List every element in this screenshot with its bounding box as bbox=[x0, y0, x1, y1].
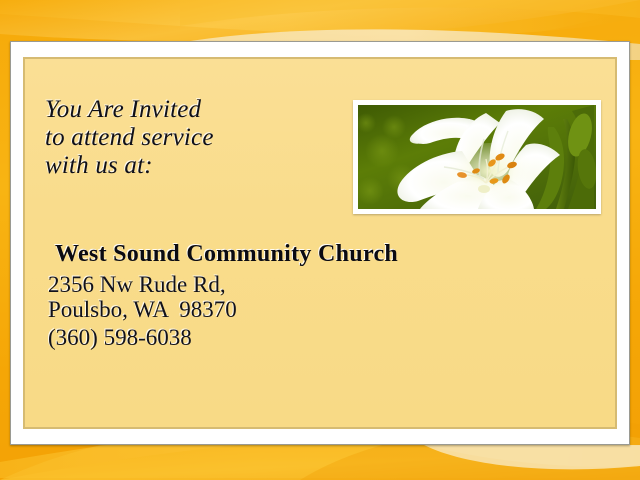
invitation-headline: You Are Invited to attend service with u… bbox=[45, 96, 335, 180]
organization-phone: (360) 598-6038 bbox=[48, 325, 192, 351]
address-street: 2356 Nw Rude Rd, bbox=[48, 272, 237, 297]
invitation-slide: You Are Invited to attend service with u… bbox=[0, 0, 640, 480]
organization-address: 2356 Nw Rude Rd, Poulsbo, WA 98370 bbox=[48, 272, 237, 322]
invitation-line-2: to attend service bbox=[45, 124, 335, 152]
lily-photo bbox=[358, 105, 596, 209]
organization-name: West Sound Community Church bbox=[55, 241, 398, 268]
invitation-line-3: with us at: bbox=[45, 152, 335, 180]
photo-frame bbox=[353, 100, 601, 214]
lily-flower-image bbox=[358, 105, 596, 209]
address-city-state-zip: Poulsbo, WA 98370 bbox=[48, 297, 237, 322]
invitation-line-1: You Are Invited bbox=[45, 96, 335, 124]
